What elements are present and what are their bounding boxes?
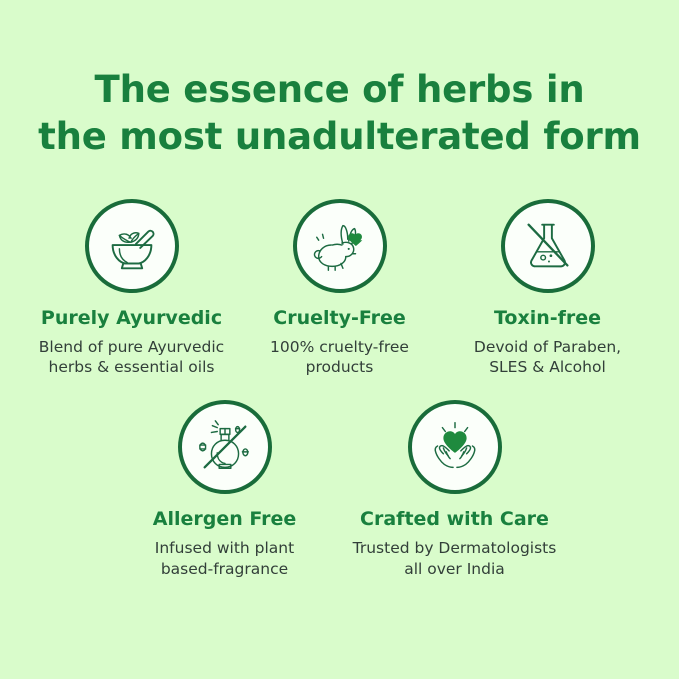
page-title-line-1: The essence of herbs in — [30, 66, 650, 113]
feature-title: Cruelty-Free — [273, 308, 406, 330]
feature-row-bottom: Allergen Free Infused with plant based-f… — [20, 400, 660, 580]
feature-purely-ayurvedic: Purely Ayurvedic Blend of pure Ayurvedic… — [28, 199, 236, 379]
feature-description-line-2: based-fragrance — [161, 560, 288, 578]
feature-title: Allergen Free — [153, 509, 297, 531]
infographic-page: The essence of herbs in the most unadult… — [0, 0, 679, 679]
feature-icon-badge — [178, 400, 272, 494]
feature-description-line-2: SLES & Alcohol — [489, 358, 606, 376]
feature-description-line-2: all over India — [404, 560, 505, 578]
feature-icon-badge — [85, 199, 179, 293]
feature-cruelty-free: Cruelty-Free 100% cruelty-free products — [236, 199, 444, 379]
feature-crafted-with-care: Crafted with Care Trusted by Dermatologi… — [340, 400, 570, 580]
mortar-and-pestle-icon — [101, 215, 163, 277]
feature-description-line-1: Trusted by Dermatologists — [353, 539, 557, 557]
feature-grid: Purely Ayurvedic Blend of pure Ayurvedic… — [20, 199, 660, 580]
feature-description: Blend of pure Ayurvedic herbs & essentia… — [39, 337, 224, 379]
feature-description: Infused with plant based-fragrance — [155, 538, 294, 580]
feature-description: Trusted by Dermatologists all over India — [353, 538, 557, 580]
no-allergen-spray-bottle-icon — [194, 416, 256, 478]
page-title-line-2: the most unadulterated form — [30, 113, 650, 160]
feature-icon-badge — [408, 400, 502, 494]
feature-icon-badge — [501, 199, 595, 293]
feature-description-line-1: Blend of pure Ayurvedic — [39, 338, 224, 356]
feature-description-line-1: Infused with plant — [155, 539, 294, 557]
feature-title: Crafted with Care — [360, 509, 549, 531]
feature-description-line-2: products — [306, 358, 374, 376]
feature-description-line-1: 100% cruelty-free — [270, 338, 409, 356]
no-toxin-flask-icon — [517, 215, 579, 277]
feature-description: 100% cruelty-free products — [270, 337, 409, 379]
feature-row-top: Purely Ayurvedic Blend of pure Ayurvedic… — [20, 199, 660, 379]
rabbit-heart-icon — [309, 215, 371, 277]
feature-title: Toxin-free — [494, 308, 601, 330]
feature-toxin-free: Toxin-free Devoid of Paraben, SLES & Alc… — [444, 199, 652, 379]
feature-description-line-2: herbs & essential oils — [49, 358, 215, 376]
feature-description-line-1: Devoid of Paraben, — [474, 338, 621, 356]
feature-title: Purely Ayurvedic — [41, 308, 222, 330]
page-title: The essence of herbs in the most unadult… — [30, 66, 650, 161]
feature-description: Devoid of Paraben, SLES & Alcohol — [474, 337, 621, 379]
feature-icon-badge — [293, 199, 387, 293]
hands-holding-heart-icon — [424, 416, 486, 478]
feature-allergen-free: Allergen Free Infused with plant based-f… — [110, 400, 340, 580]
